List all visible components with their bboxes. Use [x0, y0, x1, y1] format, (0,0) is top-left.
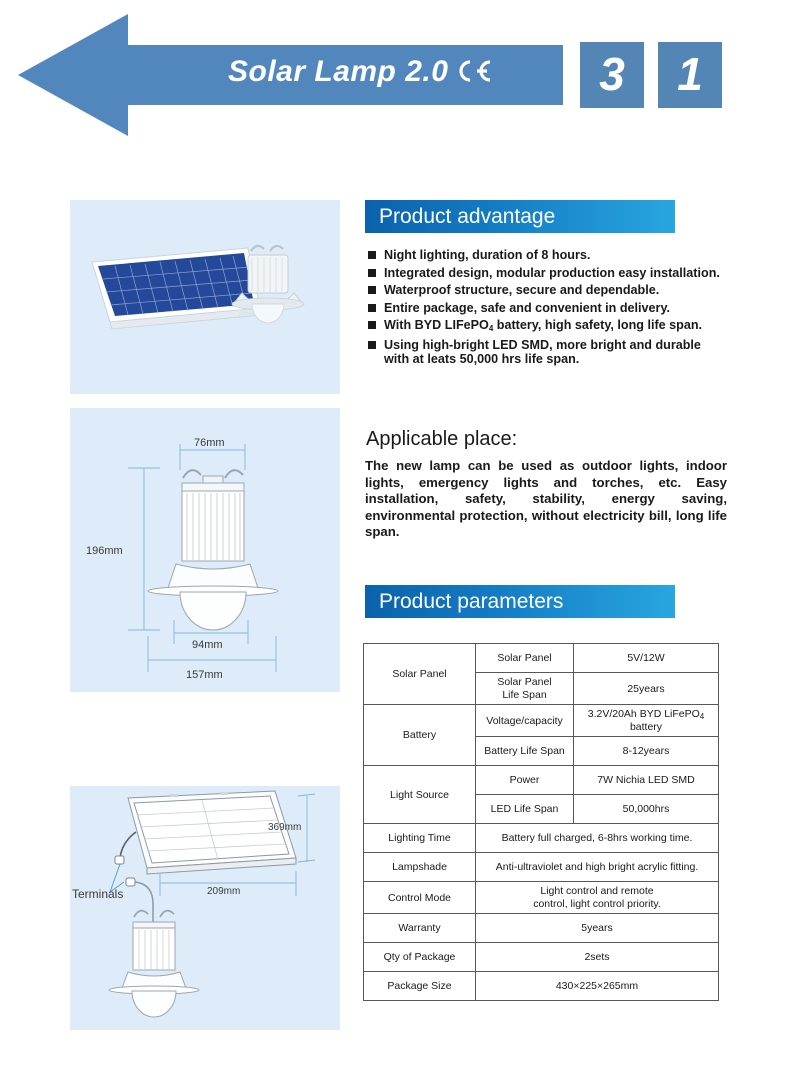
- square-bullet-icon: [368, 251, 376, 259]
- list-item-label: Waterproof structure, secure and dependa…: [384, 283, 659, 297]
- param-group: Battery: [364, 705, 476, 766]
- dim-panel-width: 209mm: [207, 886, 240, 897]
- param-value: Anti-ultraviolet and high bright acrylic…: [476, 853, 719, 882]
- product-advantage-header: Product advantage: [365, 200, 675, 233]
- list-item: Waterproof structure, secure and dependa…: [368, 283, 728, 298]
- dim-shade-width: 94mm: [192, 639, 223, 651]
- product-advantage-list: Night lighting, duration of 8 hours. Int…: [368, 248, 728, 370]
- lamp-dimension-panel: 76mm 196mm 94mm 157mm: [70, 408, 340, 692]
- table-row: Battery Voltage/capacity 3.2V/20Ah BYD L…: [364, 705, 719, 737]
- param-item: Solar Panel: [476, 644, 574, 673]
- table-row: Control Mode Light control and remote co…: [364, 882, 719, 914]
- table-row: Qty of Package 2sets: [364, 943, 719, 972]
- param-value-line1: Light control and remote: [540, 885, 653, 897]
- ce-mark-icon: [456, 55, 492, 86]
- param-item: Battery Life Span: [476, 737, 574, 766]
- terminals-label: Terminals: [72, 887, 123, 901]
- page-header: Solar Lamp 2.0 3 1: [0, 0, 800, 160]
- param-group: Solar Panel: [364, 644, 476, 705]
- list-item-label: Entire package, safe and convenient in d…: [384, 301, 670, 315]
- param-value: 25years: [574, 673, 719, 705]
- param-value: 3.2V/20Ah BYD LiFePO4 battery: [574, 705, 719, 737]
- product-photo-panel: [70, 200, 340, 394]
- param-group: Light Source: [364, 766, 476, 824]
- solar-panel-dimension-panel: 369mm 209mm Terminals: [70, 786, 340, 1030]
- list-item: Entire package, safe and convenient in d…: [368, 301, 728, 316]
- param-item: Power: [476, 766, 574, 795]
- product-parameters-header: Product parameters: [365, 585, 675, 618]
- param-value: 50,000hrs: [574, 795, 719, 824]
- param-value: 5V/12W: [574, 644, 719, 673]
- page-number-box-3: 3: [580, 42, 644, 108]
- param-value: 2sets: [476, 943, 719, 972]
- param-value: Light control and remote control, light …: [476, 882, 719, 914]
- table-row: Light Source Power 7W Nichia LED SMD: [364, 766, 719, 795]
- param-value: 430×225×265mm: [476, 972, 719, 1001]
- param-item-line1: Solar Panel: [497, 676, 551, 688]
- dim-height: 196mm: [86, 545, 123, 557]
- list-item: Night lighting, duration of 8 hours.: [368, 248, 728, 263]
- param-item: Voltage/capacity: [476, 705, 574, 737]
- table-row: Solar Panel Solar Panel 5V/12W: [364, 644, 719, 673]
- square-bullet-icon: [368, 304, 376, 312]
- param-group: Control Mode: [364, 882, 476, 914]
- applicable-place-heading: Applicable place:: [366, 428, 517, 451]
- list-item-label: Night lighting, duration of 8 hours.: [384, 248, 590, 262]
- param-value: 5years: [476, 914, 719, 943]
- dim-panel-length: 369mm: [268, 822, 301, 833]
- param-item: LED Life Span: [476, 795, 574, 824]
- dim-overall-width: 157mm: [186, 669, 223, 681]
- square-bullet-icon: [368, 321, 376, 329]
- param-group: Qty of Package: [364, 943, 476, 972]
- product-photo-illustration: [70, 200, 340, 394]
- param-group: Lighting Time: [364, 824, 476, 853]
- table-row: Warranty 5years: [364, 914, 719, 943]
- solar-panel-dimension-drawing: 369mm 209mm Terminals: [70, 786, 340, 1030]
- param-value-line2: control, light control priority.: [533, 898, 661, 910]
- param-value: 7W Nichia LED SMD: [574, 766, 719, 795]
- square-bullet-icon: [368, 341, 376, 349]
- banner-title-text: Solar Lamp 2.0: [228, 55, 448, 88]
- param-group: Lampshade: [364, 853, 476, 882]
- product-parameters-table: Solar Panel Solar Panel 5V/12W Solar Pan…: [363, 643, 719, 1001]
- list-item: With BYD LIFePO4 battery, high safety, l…: [368, 318, 728, 335]
- list-item-label: Using high-bright LED SMD, more bright a…: [384, 338, 701, 367]
- param-item-line2: Life Span: [502, 689, 546, 701]
- lamp-dimension-drawing: 76mm 196mm 94mm 157mm: [70, 408, 340, 692]
- list-item: Using high-bright LED SMD, more bright a…: [368, 338, 728, 367]
- banner-title: Solar Lamp 2.0: [228, 55, 492, 89]
- table-row: Lampshade Anti-ultraviolet and high brig…: [364, 853, 719, 882]
- list-item-label: Integrated design, modular production ea…: [384, 266, 720, 280]
- param-group: Package Size: [364, 972, 476, 1001]
- square-bullet-icon: [368, 269, 376, 277]
- square-bullet-icon: [368, 286, 376, 294]
- table-row: Lighting Time Battery full charged, 6-8h…: [364, 824, 719, 853]
- param-item: Solar Panel Life Span: [476, 673, 574, 705]
- page-number-box-1: 1: [658, 42, 722, 108]
- param-group: Warranty: [364, 914, 476, 943]
- list-item: Integrated design, modular production ea…: [368, 266, 728, 281]
- applicable-place-text: The new lamp can be used as outdoor ligh…: [365, 458, 727, 541]
- dim-top-width: 76mm: [194, 437, 225, 449]
- param-value: Battery full charged, 6-8hrs working tim…: [476, 824, 719, 853]
- list-item-label: With BYD LIFePO4 battery, high safety, l…: [384, 318, 702, 332]
- param-value: 8-12years: [574, 737, 719, 766]
- table-row: Package Size 430×225×265mm: [364, 972, 719, 1001]
